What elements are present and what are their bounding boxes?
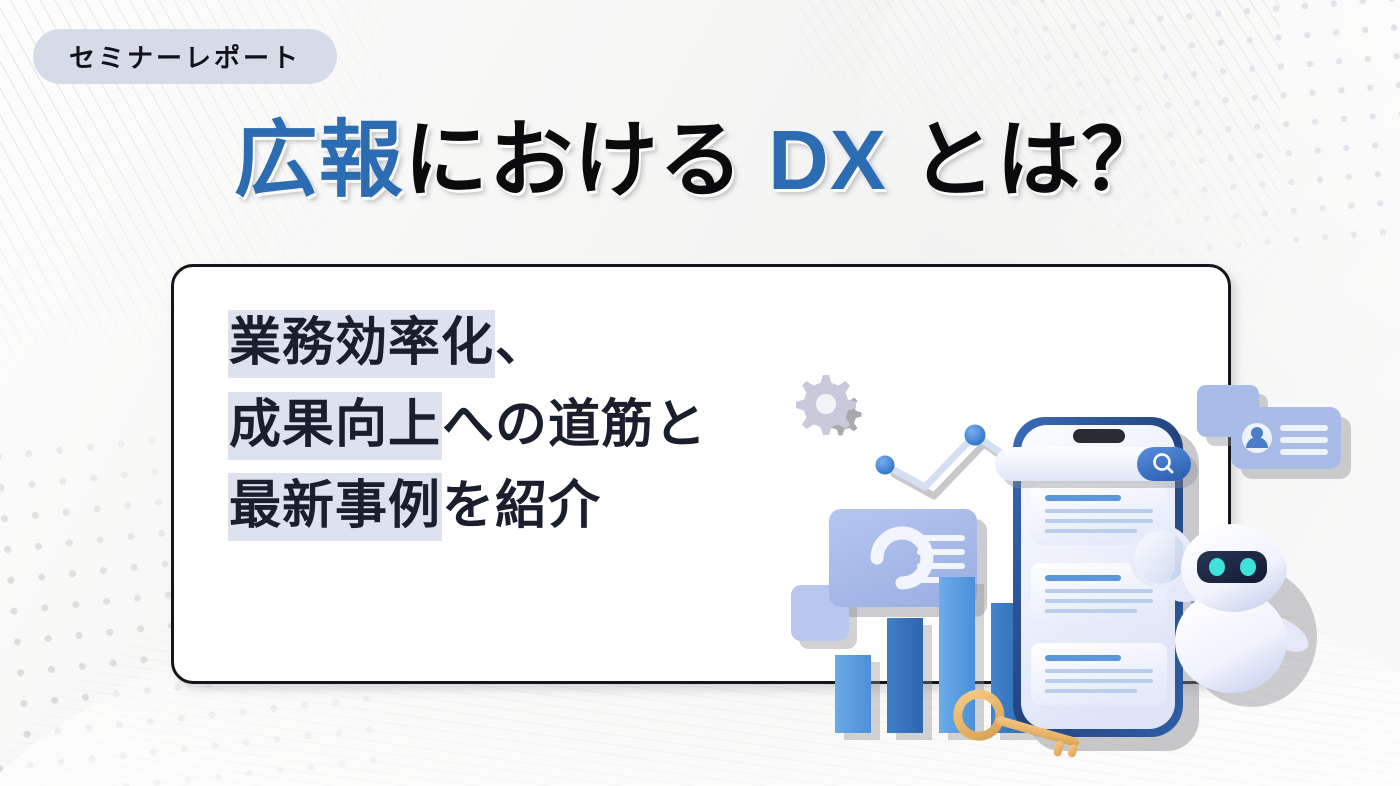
content-line-3-highlight: 最新事例	[228, 473, 442, 541]
category-badge: セミナーレポート	[33, 29, 337, 84]
page-title-segment-2: における	[404, 113, 768, 207]
content-line-3-rest: を紹介	[442, 477, 601, 535]
category-badge-label: セミナーレポート	[69, 38, 301, 75]
page-title-accent-1: 広報	[234, 113, 404, 207]
page-title-segment-4: とは？	[887, 113, 1166, 207]
banner-canvas: セミナーレポート 広報における DX とは？ 業務効率化、 成果向上への道筋と …	[0, 0, 1400, 786]
content-line-1: 業務効率化、	[228, 310, 848, 378]
contact-card-icon	[1197, 385, 1351, 479]
phone-content-cards	[1031, 483, 1167, 705]
content-line-2: 成果向上への道筋と	[228, 392, 848, 460]
page-title: 広報における DX とは？	[0, 112, 1400, 209]
content-line-3: 最新事例を紹介	[228, 473, 848, 541]
content-line-2-highlight: 成果向上	[228, 392, 442, 460]
page-title-accent-2: DX	[768, 113, 887, 207]
content-line-1-rest: 、	[495, 314, 548, 372]
gears-icon	[796, 375, 861, 435]
content-line-2-rest: への道筋と	[442, 396, 707, 454]
content-line-1-highlight: 業務効率化	[228, 310, 495, 378]
search-bar-icon[interactable]	[995, 447, 1198, 488]
content-card-text: 業務効率化、 成果向上への道筋と 最新事例を紹介	[228, 310, 848, 555]
dx-illustration	[765, 355, 1365, 775]
